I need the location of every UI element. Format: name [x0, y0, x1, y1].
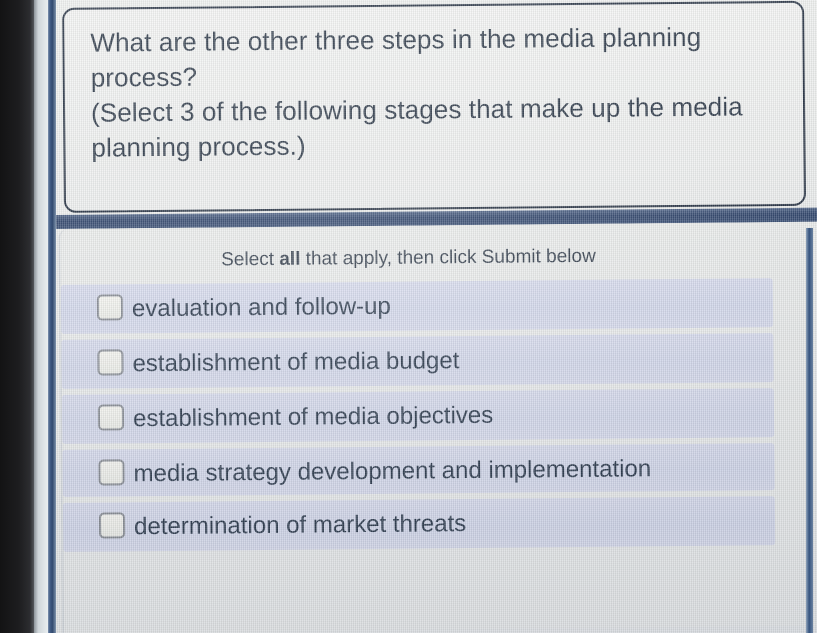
device-bezel	[0, 0, 34, 633]
screen-photo: What are the other three steps in the me…	[0, 0, 817, 633]
instruction-text: Select all that apply, then click Submit…	[60, 244, 814, 273]
checkbox-icon[interactable]	[98, 459, 124, 485]
options-list: evaluation and follow-up establishment o…	[61, 278, 817, 552]
question-text: What are the other three steps in the me…	[90, 19, 785, 166]
option-row[interactable]: evaluation and follow-up	[61, 278, 773, 334]
option-label: establishment of media objectives	[133, 402, 493, 432]
option-label: establishment of media budget	[132, 347, 459, 377]
instruction-after: that apply, then click Submit below	[300, 246, 596, 270]
app-frame-right-edge	[806, 228, 813, 633]
checkbox-icon[interactable]	[97, 349, 123, 375]
device-bezel-highlight	[33, 0, 48, 633]
option-label: media strategy development and implement…	[133, 455, 651, 487]
option-row[interactable]: determination of market threats	[63, 496, 775, 552]
checkbox-icon[interactable]	[97, 294, 123, 320]
instruction-before: Select	[221, 249, 279, 271]
option-label: evaluation and follow-up	[132, 293, 391, 322]
checkbox-icon[interactable]	[98, 404, 124, 430]
app-screen: What are the other three steps in the me…	[54, 0, 817, 633]
option-label: determination of market threats	[134, 510, 466, 540]
checkbox-icon[interactable]	[99, 512, 125, 538]
app-frame-left-edge	[47, 0, 56, 633]
option-row[interactable]: media strategy development and implement…	[62, 443, 774, 497]
instruction-emphasis: all	[279, 249, 300, 270]
question-card: What are the other three steps in the me…	[62, 1, 806, 213]
option-row[interactable]: establishment of media budget	[61, 333, 773, 389]
answers-panel: Select all that apply, then click Submit…	[58, 222, 817, 633]
option-row[interactable]: establishment of media objectives	[62, 388, 774, 444]
